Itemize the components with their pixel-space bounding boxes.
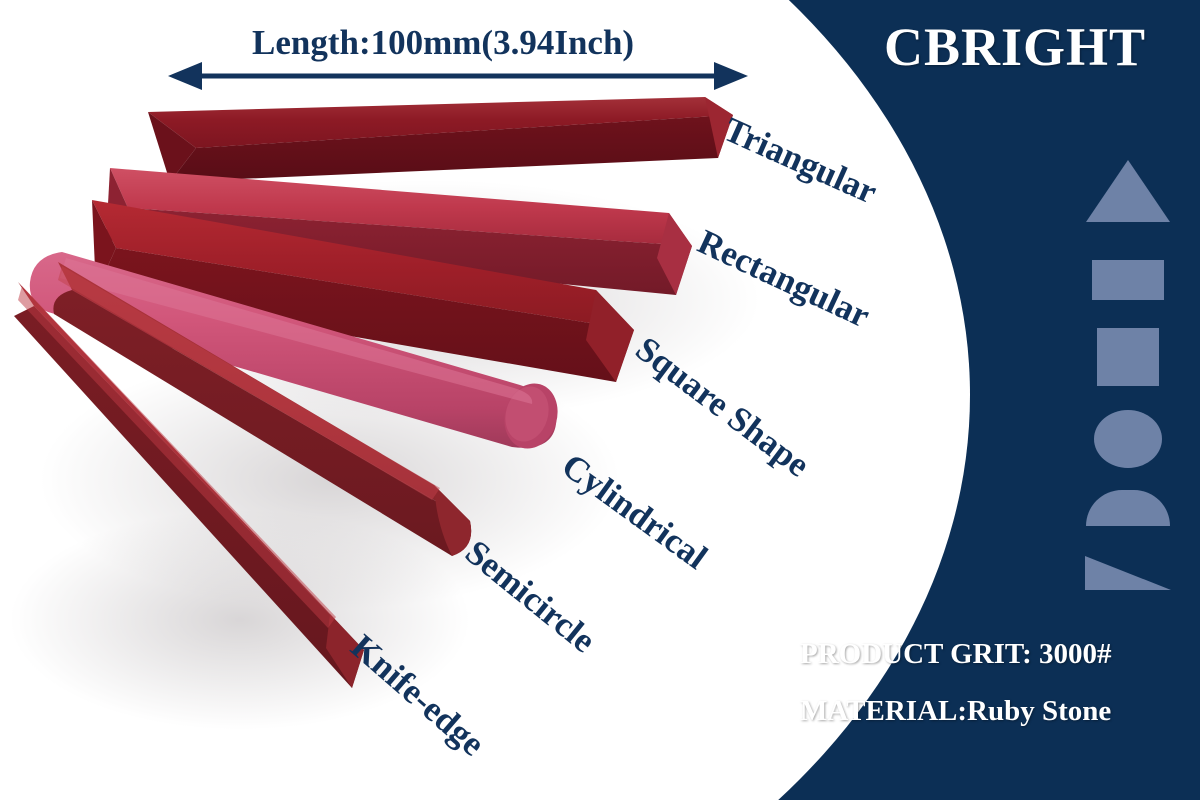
brand-name: CBRIGHT (884, 16, 1146, 78)
material-text: MATERIAL:Ruby Stone (800, 695, 1111, 728)
rectangle-icon (1076, 260, 1180, 300)
product-image: Length:100mm(3.94Inch) Triangular Rectan… (0, 0, 1200, 800)
square-icon (1076, 328, 1180, 386)
length-label: Length:100mm(3.94Inch) (252, 23, 634, 63)
product-grit-text: PRODUCT GRIT: 3000# (800, 638, 1112, 671)
wedge-icon (1076, 556, 1180, 590)
circle-icon (1076, 410, 1180, 468)
triangle-icon (1076, 160, 1180, 226)
semicircle-icon (1076, 490, 1180, 526)
sharpening-stones-photo (0, 0, 1200, 800)
cross-section-icon-column (1076, 160, 1180, 590)
stick-triangular (148, 97, 733, 182)
double-headed-arrow-icon (168, 58, 748, 94)
